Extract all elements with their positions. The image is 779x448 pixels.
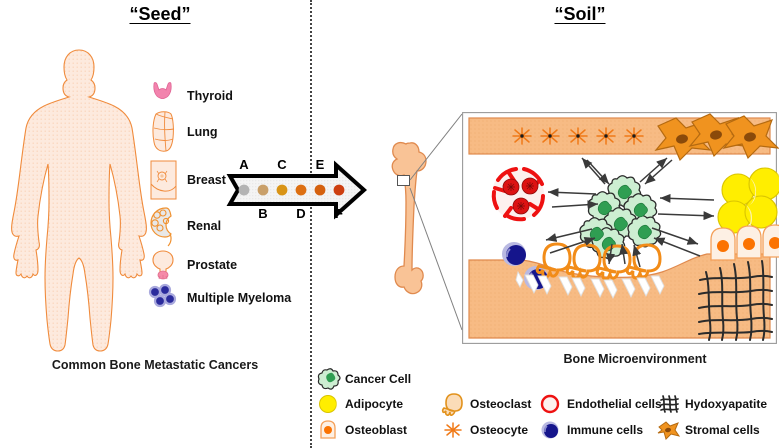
legend-label: Stromal cells [685,423,760,437]
organ-row-prostate: Prostate [146,248,306,282]
lung-icon [146,108,180,156]
stage-label-e: E [313,157,327,172]
organ-label: Lung [187,125,218,139]
organ-label: Multiple Myeloma [187,291,291,305]
organ-label: Renal [187,219,221,233]
figure-canvas: “Seed” Thyroid [0,0,779,448]
legend-label: Osteocyte [470,423,528,437]
stage-label-d: D [294,206,308,221]
legend-label: Immune cells [567,423,643,437]
seed-panel-title: “Seed” [60,4,260,25]
seed-panel-caption: Common Bone Metastatic Cancers [15,358,295,372]
legend-item-osteoclast: Osteoclast [443,391,531,417]
legend-column-2: Osteoclast Osteocyte [443,391,531,443]
breast-icon [146,156,180,204]
osteocyte-icon [443,419,465,441]
cancer-cell-icon [318,368,340,390]
organ-label: Thyroid [187,89,233,103]
legend-item-adipocyte: Adipocyte [318,391,411,417]
legend-item-cancer-cell: Cancer Cell [318,366,411,391]
legend-label: Adipocyte [345,397,403,411]
stage-label-f: F [332,206,346,221]
cell-type-legend: Cancer Cell Adipocyte Os [318,366,778,444]
human-body-silhouette [8,46,150,358]
legend-label: Endothelial cells [567,397,662,411]
osteoblast-icon [318,419,340,441]
legend-label: Osteoclast [470,397,531,411]
myeloma-cells-icon [146,282,180,314]
stage-label-b: B [256,206,270,221]
legend-item-immune-cells: Immune cells [540,417,662,443]
osteoclast-icon [443,393,465,415]
stage-label-c: C [275,157,289,172]
organ-label: Breast [187,173,226,187]
legend-column-1: Cancer Cell Adipocyte Os [318,366,411,443]
kidney-icon [146,204,180,248]
legend-label: Cancer Cell [345,372,411,386]
organ-label: Prostate [187,258,237,272]
bone-microenvironment-panel [462,112,777,344]
immune-cell-icon [540,419,562,441]
stromal-cell-icon [658,419,680,441]
prostate-icon [146,248,180,282]
legend-item-stromal-cells: Stromal cells [658,417,767,443]
legend-label: Osteoblast [345,423,407,437]
soil-panel-title: “Soil” [480,4,680,25]
progression-steps [228,156,390,224]
organ-row-lung: Lung [146,108,306,156]
endothelial-cell-icon [540,393,562,415]
soil-panel-caption: Bone Microenvironment [520,352,750,366]
organ-row-thyroid: Thyroid [146,84,306,108]
legend-column-4: Hydoxyapatite Stromal cells [658,391,767,443]
legend-item-osteocyte: Osteocyte [443,417,531,443]
stage-label-a: A [237,157,251,172]
legend-item-endothelial-cells: Endothelial cells [540,391,662,417]
legend-column-3: Endothelial cells Immune cells [540,391,662,443]
legend-item-hydroxyapatite: Hydoxyapatite [658,391,767,417]
hydroxyapatite-icon [658,393,680,415]
legend-item-osteoblast: Osteoblast [318,417,411,443]
organ-row-multiple-myeloma: Multiple Myeloma [146,282,306,314]
adipocyte-icon [318,393,340,415]
panel-divider [310,0,312,448]
legend-label: Hydoxyapatite [685,397,767,411]
